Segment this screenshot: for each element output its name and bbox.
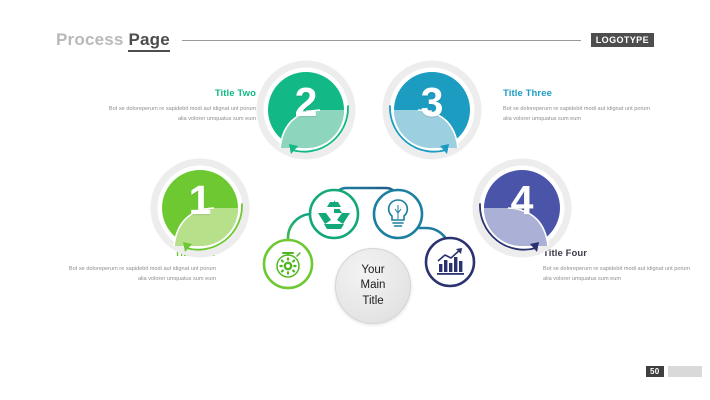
center-icon-cluster: Your Main Title [262, 186, 478, 326]
header-divider-rule [182, 40, 581, 41]
footer-gray-bar [668, 366, 702, 377]
center-title-line-2: Main [361, 278, 386, 293]
center-title-line-3: Title [361, 294, 386, 309]
text-block-one-body: Bot se doloreperum re sapidebit modi aut… [66, 264, 216, 285]
icon-circle-4[interactable] [426, 238, 474, 286]
text-block-three-title: Title Three [503, 88, 653, 99]
text-block-two: Title Two Bot se doloreperum re sapidebi… [106, 88, 256, 125]
process-node-4-number: 4 [474, 177, 570, 224]
logotype-badge: LOGOTYPE [591, 33, 654, 47]
text-block-two-body: Bot se doloreperum re sapidebit modi aut… [106, 104, 256, 125]
page-number-badge: 50 [646, 366, 664, 377]
text-block-two-title: Title Two [106, 88, 256, 99]
text-block-three-body: Bot se doloreperum re sapidebit modi aut… [503, 104, 653, 125]
process-node-3[interactable]: 3 [384, 62, 480, 158]
process-node-1[interactable]: 1 [152, 160, 248, 256]
center-main-title-circle[interactable]: Your Main Title [335, 248, 411, 324]
slide-canvas: Process Page LOGOTYPE Title Two Bot se d… [0, 0, 710, 400]
slide-header: Process Page LOGOTYPE [56, 30, 654, 50]
icon-circle-2[interactable] [310, 190, 358, 238]
page-title-part2: Page [128, 30, 169, 52]
text-block-three: Title Three Bot se doloreperum re sapide… [503, 88, 653, 125]
process-node-2[interactable]: 2 [258, 62, 354, 158]
page-title-part1: Process [56, 30, 128, 49]
center-title-line-1: Your [361, 263, 386, 278]
process-node-2-number: 2 [258, 79, 354, 126]
process-node-1-number: 1 [152, 177, 248, 224]
text-block-four-body: Bot se doloreperum re sapidebit modi aut… [543, 264, 693, 285]
process-node-3-number: 3 [384, 79, 480, 126]
page-title: Process Page [56, 30, 170, 50]
process-node-4[interactable]: 4 [474, 160, 570, 256]
center-main-title-text: Your Main Title [361, 263, 386, 309]
